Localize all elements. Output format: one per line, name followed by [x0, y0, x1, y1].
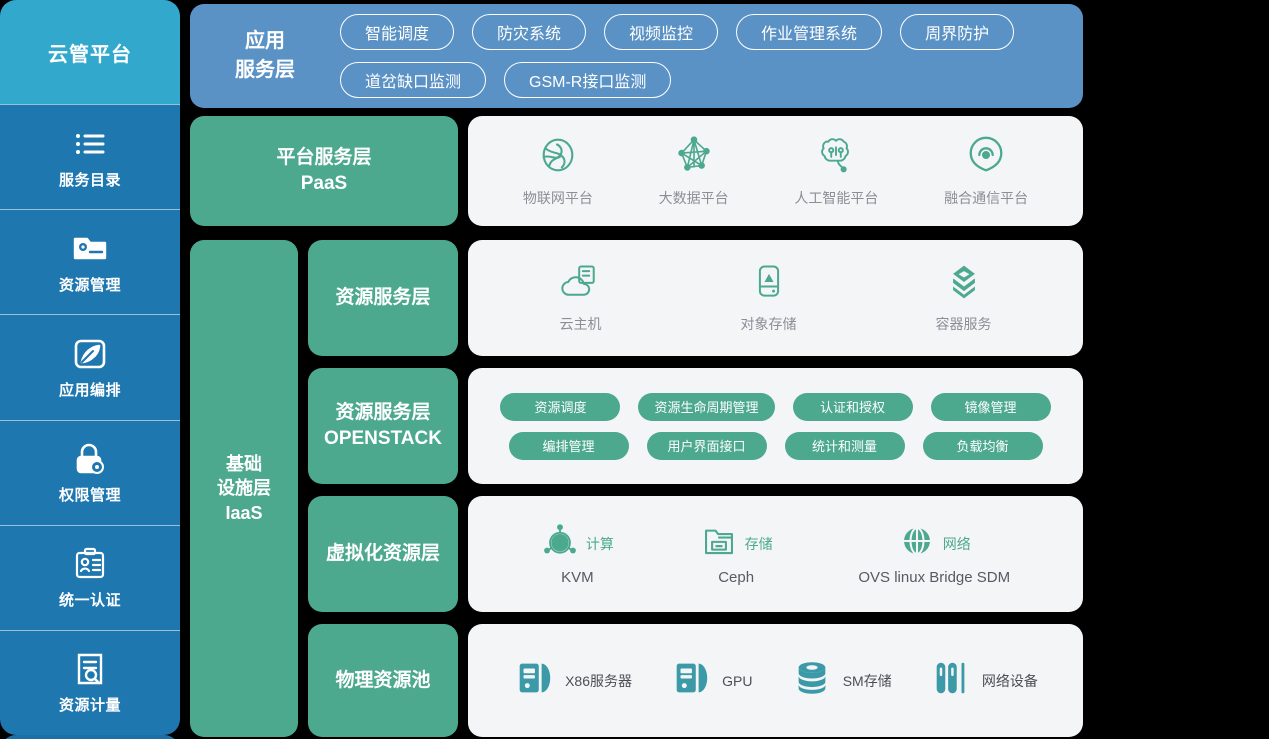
virtualization-row: 计算 KVM 存储 — [468, 496, 1083, 612]
openstack-panel: 资源调度 资源生命周期管理 认证和授权 镜像管理 编排管理 用户界面接口 统计和… — [468, 368, 1083, 484]
object-storage-icon — [749, 262, 789, 307]
sidebar-item-service-catalog[interactable]: 服务目录 — [0, 104, 180, 209]
physical-item-label: X86服务器 — [565, 671, 632, 691]
app-pill[interactable]: 防灾系统 — [472, 14, 586, 50]
center-stack: 应用 服务层 智能调度 防灾系统 视频监控 作业管理系统 周界防护 道岔缺口监测… — [190, 0, 1085, 739]
sidebar-item-label: 资源管理 — [59, 274, 121, 295]
app-pill[interactable]: 周界防护 — [900, 14, 1014, 50]
list-icon — [71, 125, 109, 163]
virt-item-name: KVM — [561, 569, 594, 586]
openstack-pill[interactable]: 资源调度 — [500, 393, 620, 421]
virt-item-kind: 计算 — [586, 534, 614, 554]
left-sidebar-title: 云管平台 — [0, 0, 180, 104]
app-pill[interactable]: GSM-R接口监测 — [504, 62, 671, 98]
resource-item-object-storage[interactable]: 对象存储 — [741, 262, 797, 334]
openstack-pill[interactable]: 资源生命周期管理 — [638, 393, 774, 421]
lock-gear-icon — [71, 440, 109, 478]
physical-item-x86-server[interactable]: X86服务器 — [513, 657, 632, 704]
iaas-layer-label: 基础 设施层 IaaS — [190, 240, 298, 737]
graph-nodes-icon — [673, 134, 715, 181]
paas-item-label: 物联网平台 — [523, 188, 593, 208]
physical-item-network-device[interactable]: 网络设备 — [930, 657, 1038, 704]
physical-item-label: SM存储 — [843, 671, 892, 691]
compute-node-icon — [541, 522, 579, 565]
virt-item-compute[interactable]: 计算 KVM — [541, 522, 614, 586]
physical-panel: X86服务器 GPU — [468, 624, 1083, 737]
openstack-pill[interactable]: 用户界面接口 — [647, 432, 767, 460]
virt-item-top: 网络 — [898, 522, 971, 565]
application-pill-group: 智能调度 防灾系统 视频监控 作业管理系统 周界防护 道岔缺口监测 GSM-R接… — [340, 14, 1083, 98]
virtualization-panel: 计算 KVM 存储 — [468, 496, 1083, 612]
resource-item-label: 对象存储 — [741, 314, 797, 334]
cloud-server-icon — [561, 262, 601, 307]
sidebar-item-unified-authentication[interactable]: 统一认证 — [0, 525, 180, 630]
resource-item-label: 容器服务 — [936, 314, 992, 334]
resource-item-cloud-host[interactable]: 云主机 — [560, 262, 602, 334]
physical-item-gpu[interactable]: GPU — [670, 657, 752, 704]
sidebar-item-label: 资源计量 — [59, 694, 121, 715]
sidebar-item-application-orchestration[interactable]: 应用编排 — [0, 314, 180, 419]
openstack-pill[interactable]: 编排管理 — [509, 432, 629, 460]
resource-service-panel: 云主机 对象存储 — [468, 240, 1083, 356]
storage-folder-icon — [700, 522, 738, 565]
virt-item-name: Ceph — [718, 569, 754, 586]
network-device-icon — [930, 657, 972, 704]
physical-row: X86服务器 GPU — [468, 624, 1083, 737]
virt-item-storage[interactable]: 存储 Ceph — [700, 522, 773, 586]
openstack-pill[interactable]: 负载均衡 — [923, 432, 1043, 460]
sidebar-item-resource-management[interactable]: 资源管理 — [0, 209, 180, 314]
paas-item-ai[interactable]: 人工智能平台 — [794, 134, 878, 208]
virt-item-top: 存储 — [700, 522, 773, 565]
virt-item-kind: 存储 — [745, 534, 773, 554]
openstack-pill[interactable]: 镜像管理 — [931, 393, 1051, 421]
openstack-layer-label: 资源服务层 OPENSTACK — [308, 368, 458, 484]
cloud-management-platform-sidebar: 云管平台 服务目录 — [0, 0, 180, 735]
disk-stack-icon — [791, 657, 833, 704]
paas-item-label: 大数据平台 — [659, 188, 729, 208]
physical-item-sm-storage[interactable]: SM存储 — [791, 657, 892, 704]
pen-square-icon — [71, 335, 109, 373]
application-service-layer: 应用 服务层 智能调度 防灾系统 视频监控 作业管理系统 周界防护 道岔缺口监测… — [190, 4, 1083, 108]
resource-service-layer-label: 资源服务层 — [308, 240, 458, 356]
application-layer-title: 应用 服务层 — [190, 27, 340, 85]
app-pill[interactable]: 道岔缺口监测 — [340, 62, 486, 98]
openstack-pill[interactable]: 认证和授权 — [793, 393, 913, 421]
paas-item-iot[interactable]: 物联网平台 — [523, 134, 593, 208]
paas-item-label: 人工智能平台 — [794, 188, 878, 208]
right-sidebar-title: 统一运维平台 — [0, 735, 180, 739]
physical-layer-label: 物理资源池 — [308, 624, 458, 737]
document-search-icon — [71, 650, 109, 688]
folder-gear-icon — [71, 230, 109, 268]
sidebar-item-resource-metering[interactable]: 资源计量 — [0, 630, 180, 735]
sidebar-item-permission-management[interactable]: 权限管理 — [0, 420, 180, 525]
virt-item-name: OVS linux Bridge SDM — [858, 569, 1010, 586]
openstack-pill-group: 资源调度 资源生命周期管理 认证和授权 镜像管理 编排管理 用户界面接口 统计和… — [468, 368, 1083, 484]
paas-item-label: 融合通信平台 — [944, 188, 1028, 208]
paas-item-communication[interactable]: 融合通信平台 — [944, 134, 1028, 208]
virtualization-layer-label: 虚拟化资源层 — [308, 496, 458, 612]
resource-icon-row: 云主机 对象存储 — [468, 240, 1083, 356]
paas-icon-row: 物联网平台 大数据平台 — [468, 116, 1083, 226]
sidebar-item-label: 服务目录 — [59, 169, 121, 190]
paas-item-bigdata[interactable]: 大数据平台 — [659, 134, 729, 208]
paas-layer-label: 平台服务层 PaaS — [190, 116, 458, 226]
app-pill[interactable]: 智能调度 — [340, 14, 454, 50]
sidebar-item-label: 权限管理 — [59, 484, 121, 505]
signal-waves-icon — [965, 134, 1007, 181]
id-card-icon — [71, 545, 109, 583]
openstack-pill[interactable]: 统计和测量 — [785, 432, 905, 460]
server-tower-icon — [513, 657, 555, 704]
unified-operations-platform-sidebar: 统一运维平台 资产管理 — [0, 735, 180, 739]
app-pill[interactable]: 视频监控 — [604, 14, 718, 50]
virt-item-network[interactable]: 网络 OVS linux Bridge SDM — [858, 522, 1010, 586]
resource-item-label: 云主机 — [560, 314, 602, 334]
paas-layer-panel: 物联网平台 大数据平台 — [468, 116, 1083, 226]
sidebar-item-label: 应用编排 — [59, 379, 121, 400]
network-globe-icon — [898, 522, 936, 565]
physical-item-label: GPU — [722, 673, 752, 689]
sidebar-item-label: 统一认证 — [59, 589, 121, 610]
architecture-diagram: 云管平台 服务目录 — [0, 0, 1269, 739]
physical-item-label: 网络设备 — [982, 671, 1038, 691]
virt-item-top: 计算 — [541, 522, 614, 565]
virt-item-kind: 网络 — [943, 534, 971, 554]
container-stack-icon — [944, 262, 984, 307]
resource-item-container-service[interactable]: 容器服务 — [936, 262, 992, 334]
server-tower-icon — [670, 657, 712, 704]
app-pill[interactable]: 作业管理系统 — [736, 14, 882, 50]
brain-icon — [815, 134, 857, 181]
globe-net-icon — [537, 134, 579, 181]
